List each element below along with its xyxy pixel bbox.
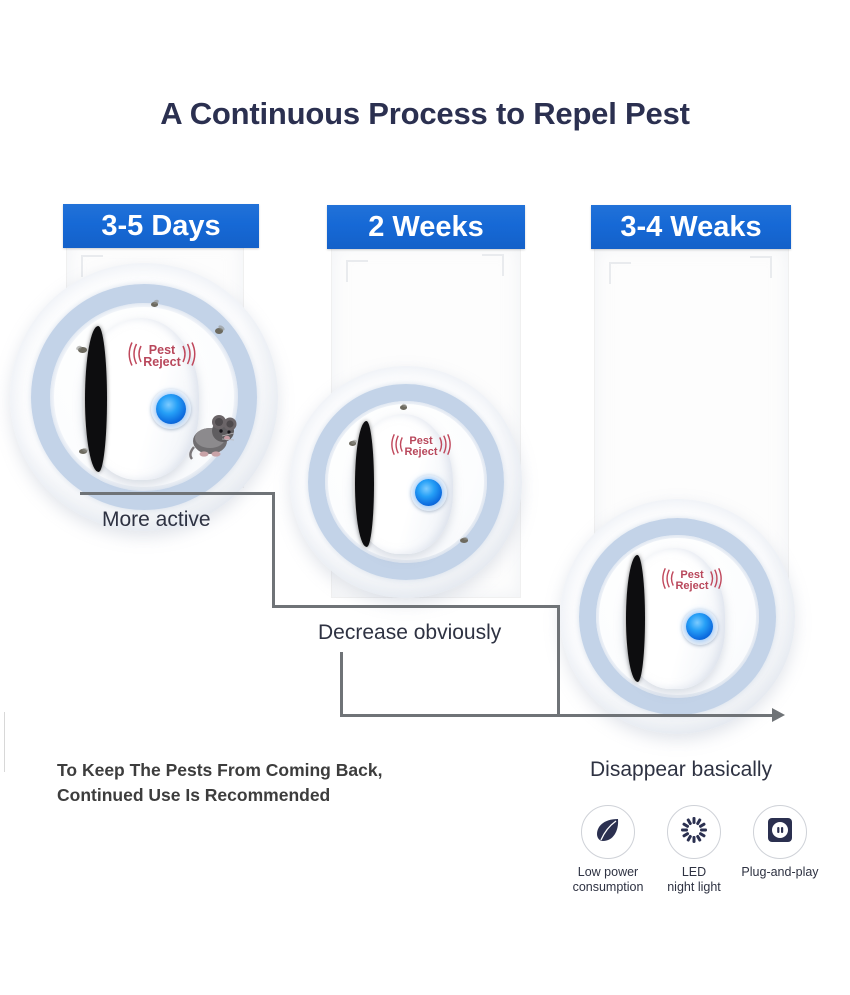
feature-list: Low power consumption	[568, 805, 820, 895]
sound-wave-left-icon	[660, 567, 675, 595]
feature-circle	[581, 805, 635, 859]
logo-text: Pest Reject	[404, 436, 437, 458]
feature-label: Low power consumption	[573, 865, 644, 895]
infographic-page: A Continuous Process to Repel Pest 3-5 D…	[0, 0, 850, 995]
bottom-note-line-1: To Keep The Pests From Coming Back,	[57, 758, 382, 783]
pest-reject-logo: Pest Reject	[387, 432, 455, 462]
device-stage-2: Pest Reject	[290, 366, 522, 598]
panel-corner-mark	[346, 260, 368, 282]
feature-circle	[667, 805, 721, 859]
pest-fly	[399, 404, 409, 411]
pest-fly	[76, 346, 88, 354]
panel-corner-mark	[482, 254, 504, 276]
logo-text: Pest Reject	[675, 570, 708, 592]
stage-badge-3: 3-4 Weaks	[591, 205, 791, 249]
connector-line-2-vertical	[557, 605, 560, 715]
pest-reject-logo: Pest Reject	[658, 566, 726, 596]
feature-label: Plug-and-play	[741, 865, 818, 880]
logo-text-bottom: Reject	[404, 447, 437, 458]
bottom-note-line-2: Continued Use Is Recommended	[57, 783, 382, 808]
sound-wave-right-icon	[438, 433, 453, 461]
logo-text: Pest Reject	[143, 344, 181, 369]
panel-corner-mark	[609, 262, 631, 284]
connector-line-1-horizontal	[80, 492, 274, 495]
device-stage-3: Pest Reject	[560, 499, 795, 734]
page-title: A Continuous Process to Repel Pest	[0, 96, 850, 132]
connector-line-3-horizontal	[340, 714, 775, 717]
pest-mouse	[186, 411, 242, 468]
connector-line-2-horizontal	[272, 605, 560, 608]
stage-caption-3: Disappear basically	[590, 758, 772, 782]
stage-badge-2: 2 Weeks	[327, 205, 525, 249]
stage-caption-1: More active	[102, 508, 211, 532]
logo-text-bottom: Reject	[675, 581, 708, 592]
leaf-icon	[593, 815, 623, 850]
pest-fly	[150, 300, 160, 308]
device-stage-1: Pest Reject	[10, 263, 278, 531]
panel-corner-mark	[750, 256, 772, 278]
feature-plug-and-play: Plug-and-play	[740, 805, 820, 895]
sound-wave-left-icon	[126, 341, 143, 372]
pest-fly	[459, 537, 470, 544]
feature-label: LED night light	[667, 865, 721, 895]
pest-reject-logo: Pest Reject	[123, 339, 201, 373]
connector-line-1-vertical	[272, 492, 275, 608]
feature-led-night-light: LED night light	[654, 805, 734, 895]
led-indicator	[686, 613, 713, 640]
connector-line-3-vertical	[340, 652, 343, 716]
feature-low-power: Low power consumption	[568, 805, 648, 895]
stage-caption-2: Decrease obviously	[318, 621, 501, 645]
bottom-note: To Keep The Pests From Coming Back, Cont…	[57, 758, 382, 809]
sound-wave-right-icon	[709, 567, 724, 595]
edge-divider	[4, 712, 5, 772]
logo-text-bottom: Reject	[143, 356, 181, 369]
pest-fly	[214, 326, 226, 335]
power-outlet-icon	[765, 815, 795, 850]
sound-wave-left-icon	[389, 433, 404, 461]
feature-circle	[753, 805, 807, 859]
sound-wave-right-icon	[181, 341, 198, 372]
led-burst-icon	[679, 815, 709, 850]
stage-badge-1: 3-5 Days	[63, 204, 259, 248]
led-indicator	[415, 479, 442, 506]
pest-fly	[78, 448, 89, 456]
pest-fly	[348, 440, 358, 448]
device-black-crescent	[626, 555, 645, 682]
led-indicator	[156, 394, 186, 424]
arrow-head-icon	[772, 708, 785, 722]
